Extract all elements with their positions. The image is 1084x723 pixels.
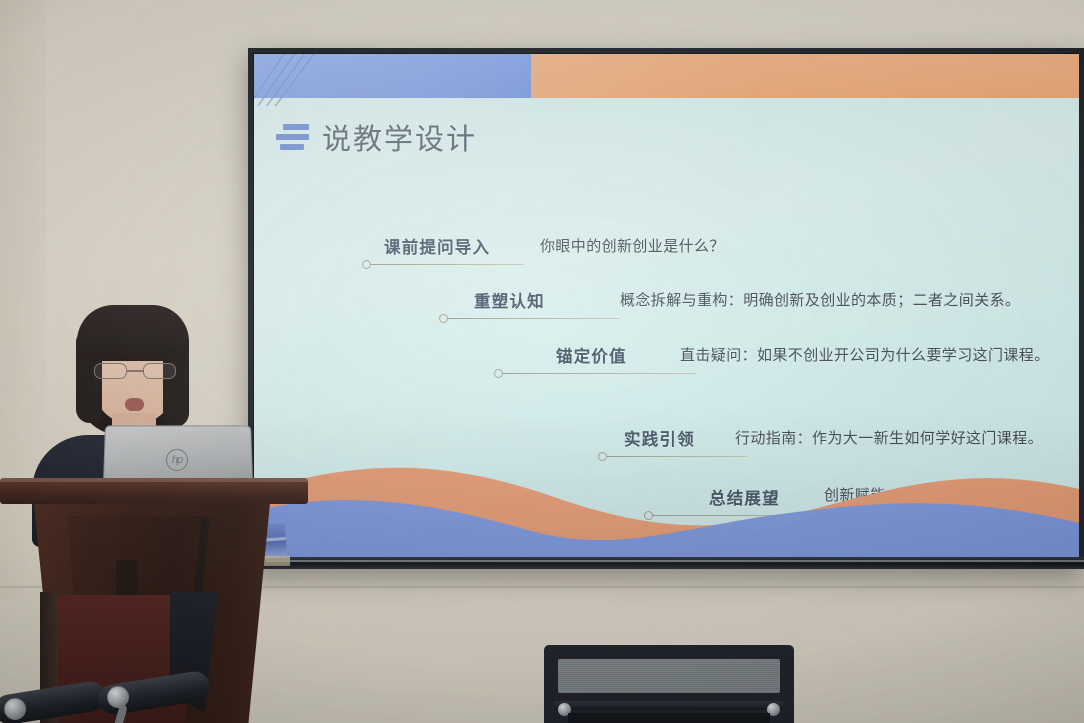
photo-vignette xyxy=(0,0,1084,723)
lecture-hall-photo: 说教学设计 课前提问导入 你眼中的创新创业是什么？ 重塑认知 xyxy=(0,0,1084,723)
